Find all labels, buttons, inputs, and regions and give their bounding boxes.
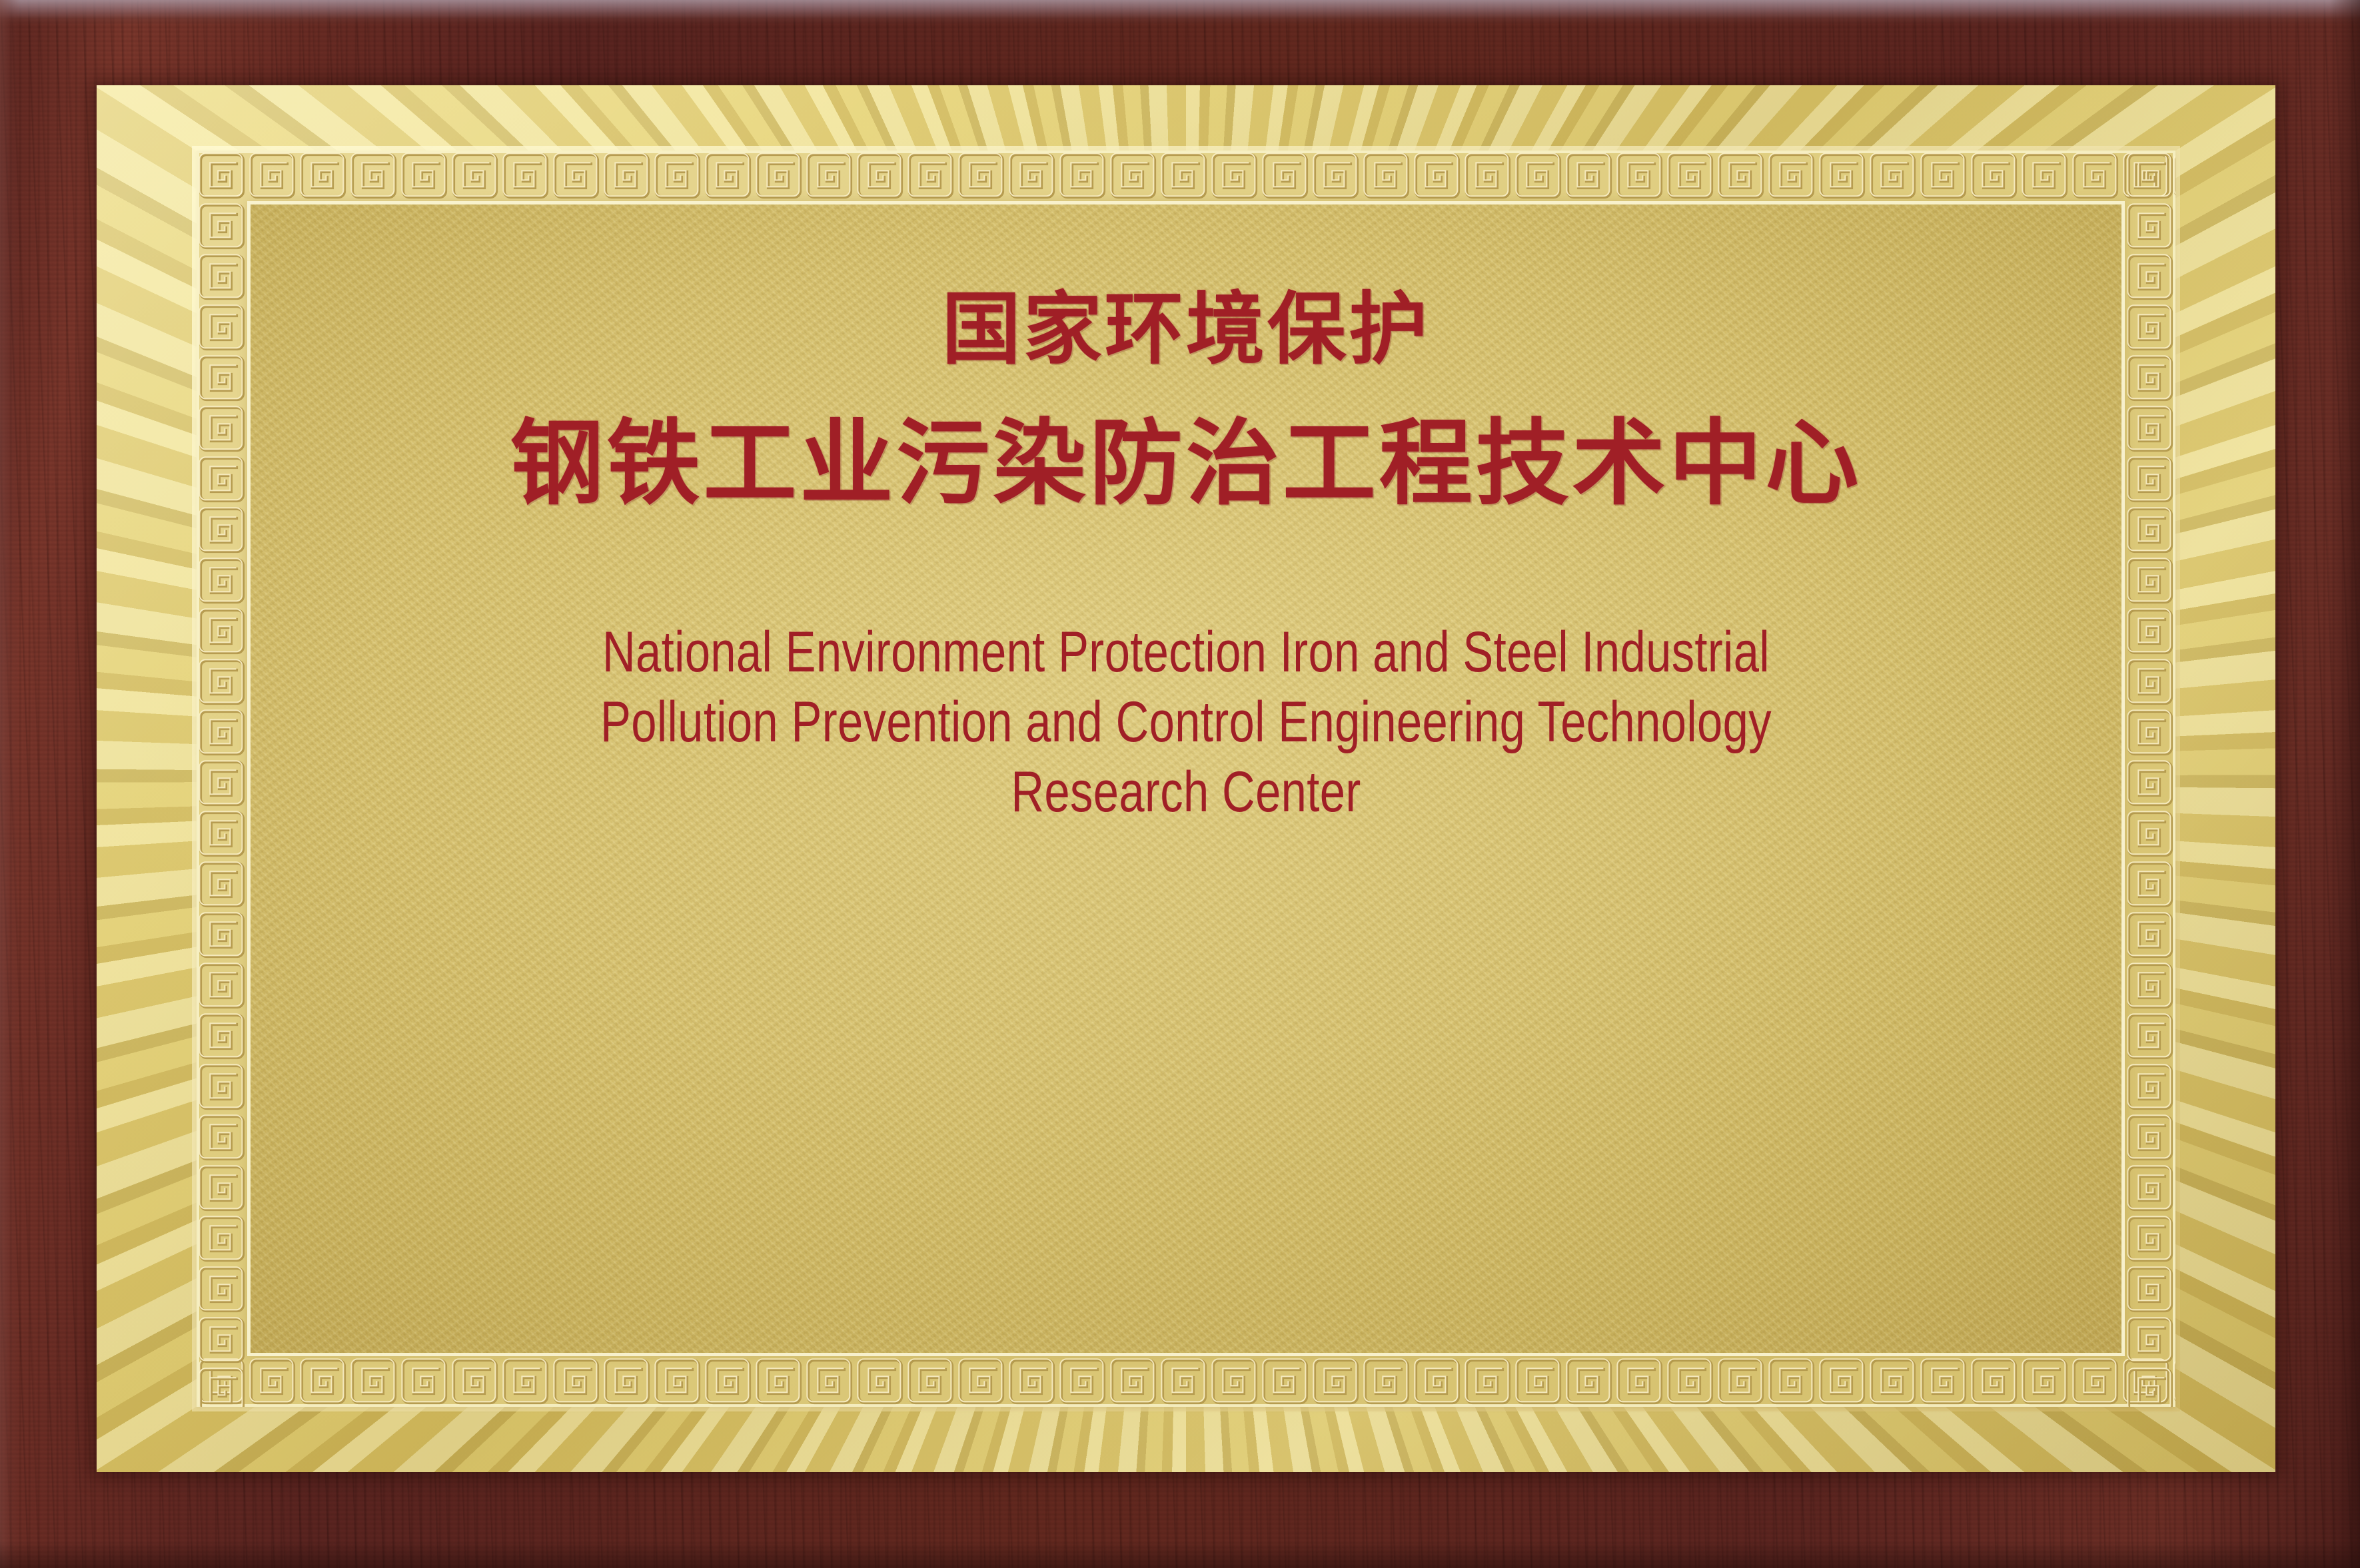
greek-key-motif [2125,151,2175,201]
greek-key-motif [2125,910,2175,961]
greek-key-motif [2125,657,2175,707]
greek-key-motif [2125,1011,2175,1062]
greek-key-motif [1665,151,1716,201]
greek-key-motif [399,151,450,201]
greek-key-motif [1007,151,1057,201]
greek-key-motif [1513,1356,1564,1407]
greek-key-motif [1057,151,1108,201]
greek-key-motif [197,201,247,252]
greek-key-motif [2125,1062,2175,1112]
greek-key-motif [197,1264,247,1315]
greek-key-motif [1108,151,1159,201]
greek-key-motif [1361,1356,1412,1407]
greek-key-motif [2125,1214,2175,1264]
greek-key-motif [197,758,247,809]
greek-key-motif [2125,1264,2175,1315]
greek-key-motif [197,1062,247,1112]
greek-key-motif [1969,151,2020,201]
greek-key-motif [1463,1356,1513,1407]
greek-key-motif [2125,961,2175,1011]
greek-key-motif [197,809,247,859]
greek-key-motif [905,1356,956,1407]
greek-key-motif [1311,1356,1361,1407]
greek-key-motif [754,1356,804,1407]
greek-key-motif [348,1356,399,1407]
greek-key-motif [197,151,247,201]
greek-key-motif [855,1356,905,1407]
greek-key-motif [500,151,551,201]
greek-key-motif [1260,151,1311,201]
greek-key-motif [197,454,247,505]
frame-bevel-left [0,0,20,1568]
greek-key-motif [1817,151,1868,201]
greek-key-motif [2125,556,2175,606]
greek-key-motif [1969,1356,2020,1407]
greek-key-motif [197,606,247,657]
greek-key-motif [298,1356,348,1407]
greek-key-motif [1260,1356,1311,1407]
english-title-line-3: Research Center [251,757,2121,827]
greek-key-motif [1716,151,1766,201]
greek-key-run-top [197,151,2175,201]
greek-key-motif [1463,151,1513,201]
greek-key-motif [197,252,247,302]
greek-key-motif [1817,1356,1868,1407]
greek-key-motif [1716,1356,1766,1407]
frame-bevel-bottom [0,1541,2360,1568]
greek-key-motif [197,961,247,1011]
english-title-block: National Environment Protection Iron and… [251,617,2121,827]
greek-key-motif [2070,1356,2121,1407]
greek-key-motif [1766,1356,1817,1407]
greek-key-motif [399,1356,450,1407]
greek-key-motif [551,1356,602,1407]
greek-key-motif [956,1356,1007,1407]
greek-key-motif [247,151,298,201]
greek-key-motif [2020,1356,2070,1407]
greek-key-motif [1614,151,1665,201]
chinese-title-line-2: 钢铁工业污染防治工程技术中心 [510,418,1862,511]
greek-key-motif [2125,707,2175,758]
greek-key-motif [2125,1366,2175,1407]
greek-key-motif [197,1214,247,1264]
greek-key-motif [450,151,500,201]
greek-key-motif [2125,1163,2175,1214]
greek-key-motif [905,151,956,201]
greek-key-motif [197,1315,247,1366]
greek-key-motif [1159,151,1209,201]
greek-key-motif [956,151,1007,201]
greek-key-motif [551,151,602,201]
greek-key-motif [197,353,247,404]
greek-key-motif [652,151,703,201]
greek-key-motif [500,1356,551,1407]
greek-key-motif [2125,809,2175,859]
greek-key-motif [197,707,247,758]
greek-key-motif [2125,606,2175,657]
award-plaque: 国家环境保护 钢铁工业污染防治工程技术中心 National Environme… [0,0,2360,1568]
greek-key-motif [1057,1356,1108,1407]
greek-key-motif [197,859,247,910]
inscription-block: 国家环境保护 钢铁工业污染防治工程技术中心 National Environme… [251,204,2121,1353]
greek-key-run-left [197,151,247,1407]
chinese-title-line-1: 国家环境保护 [942,290,1431,368]
greek-key-motif [247,1356,298,1407]
greek-key-motif [1868,1356,1918,1407]
greek-key-motif [2125,404,2175,454]
greek-key-motif [2125,454,2175,505]
greek-key-motif [652,1356,703,1407]
greek-key-motif [197,657,247,707]
greek-key-motif [1412,151,1463,201]
greek-key-run-right [2125,151,2175,1407]
greek-key-motif [450,1356,500,1407]
greek-key-motif [2125,353,2175,404]
greek-key-motif [197,556,247,606]
greek-key-motif [1665,1356,1716,1407]
greek-key-motif [1513,151,1564,201]
greek-key-motif [197,302,247,353]
greek-key-motif [1564,1356,1614,1407]
greek-key-motif [197,1366,247,1407]
greek-key-motif [2125,201,2175,252]
greek-key-motif [1564,151,1614,201]
frame-bevel-top [0,0,2360,25]
greek-key-motif [1766,151,1817,201]
greek-key-motif [197,404,247,454]
greek-key-motif [197,505,247,556]
english-title-line-1: National Environment Protection Iron and… [251,617,2121,687]
greek-key-motif [1209,1356,1260,1407]
greek-key-motif [1918,151,1969,201]
frame-bevel-right [2329,0,2360,1568]
greek-key-motif [804,1356,855,1407]
english-title-line-2: Pollution Prevention and Control Enginee… [251,687,2121,757]
greek-key-motif [2125,505,2175,556]
greek-key-motif [197,1163,247,1214]
greek-key-run-bottom [197,1356,2175,1407]
greek-key-motif [602,151,652,201]
greek-key-motif [804,151,855,201]
greek-key-motif [703,1356,754,1407]
greek-key-motif [2125,302,2175,353]
greek-key-motif [1361,151,1412,201]
greek-key-motif [1209,151,1260,201]
greek-key-motif [2070,151,2121,201]
greek-key-motif [197,910,247,961]
gold-plate: 国家环境保护 钢铁工业污染防治工程技术中心 National Environme… [97,85,2275,1472]
greek-key-motif [2125,1112,2175,1163]
greek-key-motif [2125,758,2175,809]
greek-key-motif [1918,1356,1969,1407]
greek-key-motif [2020,151,2070,201]
greek-key-motif [703,151,754,201]
greek-key-motif [1412,1356,1463,1407]
inner-gold-field: 国家环境保护 钢铁工业污染防治工程技术中心 National Environme… [251,204,2121,1353]
greek-key-motif [1159,1356,1209,1407]
greek-key-motif [2125,252,2175,302]
greek-key-motif [1614,1356,1665,1407]
greek-key-motif [2125,1315,2175,1366]
greek-key-motif [1108,1356,1159,1407]
greek-key-motif [602,1356,652,1407]
greek-key-motif [754,151,804,201]
greek-key-motif [1868,151,1918,201]
greek-key-motif [1311,151,1361,201]
greek-key-motif [1007,1356,1057,1407]
greek-key-motif [2125,859,2175,910]
greek-key-motif [197,1011,247,1062]
greek-key-motif [348,151,399,201]
greek-key-motif [197,1112,247,1163]
greek-key-motif [298,151,348,201]
greek-key-motif [855,151,905,201]
